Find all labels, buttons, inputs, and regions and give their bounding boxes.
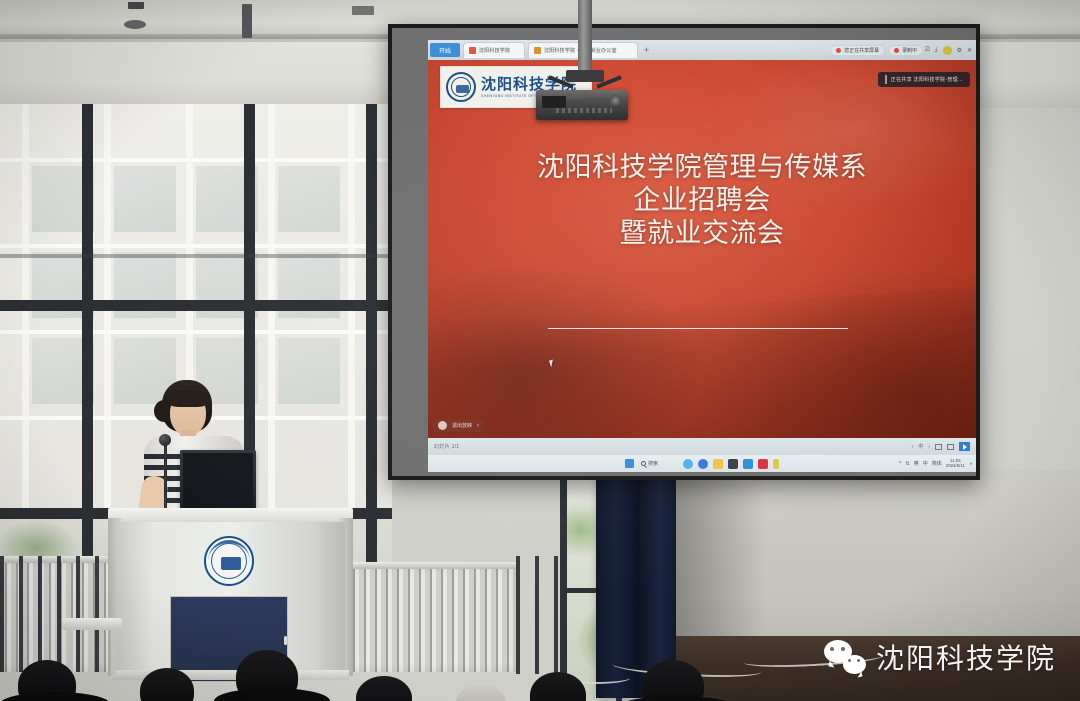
slide-title-line3: 暨就业交流会: [428, 218, 976, 251]
windows-taskbar: 搜索 ^ ⇅: [428, 455, 976, 472]
railing-right: [516, 556, 562, 674]
start-button-label: 开始: [439, 46, 451, 55]
radiator-right: [348, 566, 516, 672]
laptop-screen-bezel: [183, 453, 253, 509]
slide-sorter-icon[interactable]: [947, 444, 954, 450]
app-wps-icon[interactable]: [758, 459, 768, 469]
slide-divider-line: [548, 328, 848, 329]
powerpoint-status-bar: 幻灯片 1/1 ‹ 中 ›: [428, 438, 976, 455]
ceiling-light-icon: [124, 20, 146, 29]
cast-icon[interactable]: ⎚: [925, 47, 930, 54]
clock-date: 2024/5/11: [946, 464, 965, 469]
projected-desktop: 开始 沈阳科技学院 沈阳科技学院 · 招生就业办公室 +: [428, 40, 976, 472]
projector-mount: [566, 70, 604, 82]
app-store-icon[interactable]: [743, 459, 753, 469]
chevron-left-icon[interactable]: ‹: [477, 423, 479, 429]
projector-vent: [542, 96, 566, 108]
taskbar-apps: [683, 459, 779, 469]
app-edge-icon[interactable]: [683, 459, 693, 469]
window-mullion-h1: [0, 300, 392, 311]
new-tab-button[interactable]: +: [644, 45, 649, 55]
slideshow-control-bar[interactable]: 退出放映 ‹: [432, 419, 485, 432]
close-icon[interactable]: ✕: [967, 47, 972, 54]
share-screen-label: 您正在共享屏幕: [844, 47, 879, 54]
start-button[interactable]: 开始: [430, 43, 460, 57]
app-browser-icon[interactable]: [698, 459, 708, 469]
browser-tab-bar: 开始 沈阳科技学院 沈阳科技学院 · 招生就业办公室 +: [428, 40, 976, 60]
toast-bar-icon: [885, 75, 887, 84]
app-folder-icon[interactable]: [713, 459, 723, 469]
ime-mode[interactable]: 中: [923, 460, 928, 467]
ceiling-bracket-mid: [242, 4, 252, 38]
tab-favicon-icon: [534, 47, 541, 54]
screenshot-root: 开始 沈阳科技学院 沈阳科技学院 · 招生就业办公室 +: [0, 0, 1080, 701]
download-icon[interactable]: ⤓: [935, 47, 938, 54]
ime-language[interactable]: 英: [914, 460, 919, 467]
recording-status-label: 录制中: [902, 47, 917, 54]
radiator-right-cap: [348, 562, 516, 569]
pointer-icon[interactable]: [438, 421, 447, 430]
wechat-icon: [824, 640, 866, 674]
windows-start-icon[interactable]: [625, 459, 634, 468]
app-notes-icon[interactable]: [773, 459, 779, 469]
watermark-label: 沈阳科技学院: [876, 637, 1056, 677]
normal-view-icon[interactable]: [935, 444, 942, 450]
ceiling-bracket-left: [128, 2, 144, 9]
search-placeholder: 搜索: [648, 460, 658, 467]
browser-tab-1[interactable]: 沈阳科技学院: [463, 42, 525, 58]
school-seal-icon: [446, 72, 476, 102]
share-icon: [836, 48, 841, 53]
projector-lens-icon: [610, 95, 621, 106]
screen-share-toast-label: 正在共享 沈阳科技学院-管理...: [891, 76, 963, 83]
system-tray: ^ ⇅ 英 中 简体 11:05 2024/5/11 ◑: [899, 459, 972, 468]
recording-indicator-group: 您正在共享屏幕 录制中: [830, 45, 923, 56]
next-slide-button[interactable]: ›: [928, 444, 930, 450]
screen-share-toast[interactable]: 正在共享 沈阳科技学院-管理...: [878, 72, 970, 87]
projection-screen-surface: 开始 沈阳科技学院 沈阳科技学院 · 招生就业办公室 +: [392, 28, 976, 476]
projector-pole: [578, 0, 592, 74]
share-screen-pill[interactable]: 您正在共享屏幕: [830, 45, 885, 56]
podium: [108, 508, 353, 676]
taskbar-clock[interactable]: 11:05 2024/5/11: [946, 459, 965, 468]
recording-status-pill[interactable]: 录制中: [888, 45, 923, 56]
window-transom: [0, 254, 392, 258]
record-dot-icon: [894, 48, 899, 53]
projection-screen: 开始 沈阳科技学院 沈阳科技学院 · 招生就业办公室 +: [388, 24, 980, 480]
chevron-up-icon[interactable]: ^: [899, 461, 901, 467]
gear-icon[interactable]: ⚙: [957, 47, 962, 54]
browser-window-controls: ⎚ ⤓ ⚙ ✕: [925, 46, 976, 55]
watermark: 沈阳科技学院: [824, 637, 1056, 677]
slide-title: 沈阳科技学院管理与传媒系 企业招聘会 暨就业交流会: [428, 152, 976, 251]
tab-favicon-icon: [469, 47, 476, 54]
slide-title-line1: 沈阳科技学院管理与传媒系: [428, 152, 976, 185]
slide-canvas[interactable]: 沈阳科技学院 SHENYANG INSTITUTE OF SCIENCE AND…: [428, 60, 976, 438]
microphone-icon: [159, 434, 171, 446]
slideshow-icon[interactable]: [959, 442, 970, 451]
exit-slideshow-label: 退出放映: [452, 422, 472, 429]
podium-door-knob: [284, 636, 287, 645]
slide-counter: 幻灯片 1/1: [434, 443, 459, 450]
stool: [62, 618, 122, 676]
prev-slide-button[interactable]: ‹: [912, 444, 914, 450]
projector-label: [556, 108, 612, 113]
slide-title-line2: 企业招聘会: [428, 185, 976, 218]
ceiling-bracket-right: [352, 6, 374, 15]
network-icon[interactable]: ⇅: [906, 461, 910, 467]
view-mode-label: 中: [918, 443, 923, 450]
taskbar-search[interactable]: 搜索: [641, 460, 658, 467]
avatar[interactable]: [943, 46, 952, 55]
app-music-icon[interactable]: [728, 459, 738, 469]
search-icon: [641, 461, 646, 466]
volume-icon[interactable]: ◑: [969, 461, 972, 467]
browser-tab-1-label: 沈阳科技学院: [479, 47, 510, 54]
ime-extra[interactable]: 简体: [932, 460, 942, 467]
